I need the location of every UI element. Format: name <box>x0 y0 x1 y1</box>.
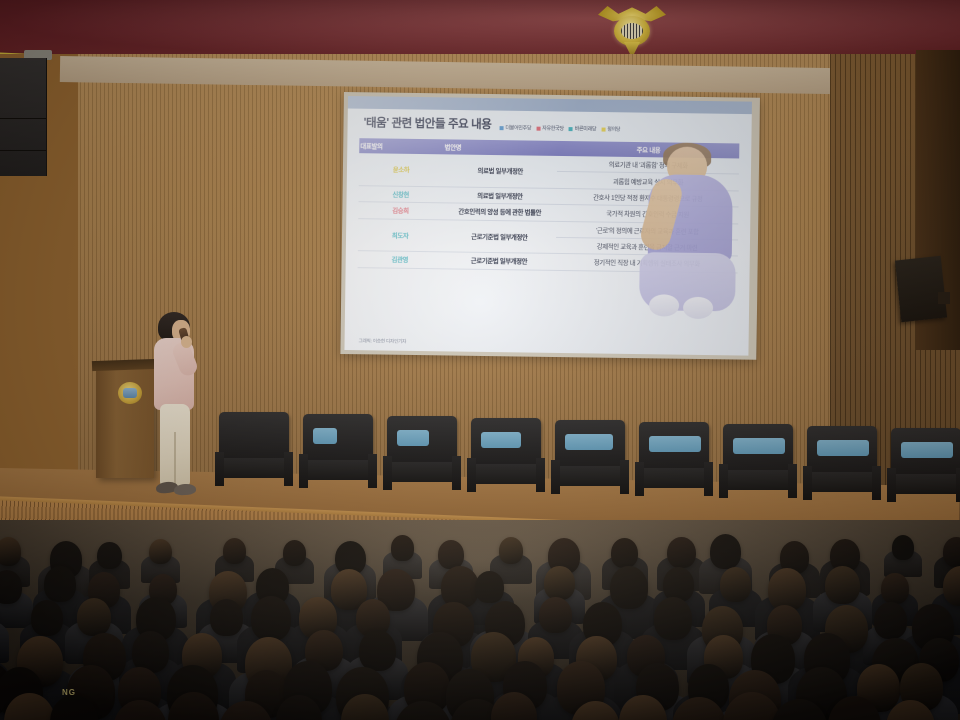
stage-chair <box>635 414 713 506</box>
col-header-billname: 법안명 <box>443 139 557 156</box>
chair-seat <box>805 472 879 492</box>
audience-vignette <box>0 520 960 720</box>
legend-swatch-icon <box>536 126 540 130</box>
school-crest-emblem <box>598 2 666 58</box>
chair-arm-right <box>788 464 797 498</box>
legend-swatch-icon <box>499 126 503 130</box>
illustration-shoe-left <box>649 294 679 316</box>
chair-cushion <box>397 430 429 446</box>
chair-seat <box>553 466 627 486</box>
cell-proposer: 최도자 <box>358 218 443 252</box>
legend-item: 자유한국당 <box>536 125 564 132</box>
slide-content: '태움' 관련 법안들 주요 내용 더불어민주당자유한국당바른미래당정의당 대표… <box>344 96 752 356</box>
chair-cushion <box>733 438 785 454</box>
chair-arm-left <box>719 464 728 498</box>
legend-swatch-icon <box>569 127 573 131</box>
chair-arm-left <box>635 462 644 496</box>
chair-arm-right <box>452 456 461 490</box>
chair-seat <box>889 474 960 494</box>
cell-bill-name: 간호인력의 양성 등에 관한 법률안 <box>443 203 557 221</box>
presenter-shoe-right <box>174 483 197 496</box>
stage-chair <box>467 410 545 502</box>
chair-cushion <box>649 436 701 452</box>
pa-speaker-wall-right <box>895 256 947 322</box>
pa-speaker-stack-left <box>0 58 47 176</box>
chair-arm-left <box>467 458 476 492</box>
chair-seat <box>301 460 375 480</box>
legend-label: 더불어민주당 <box>505 124 531 131</box>
chair-cushion <box>901 442 953 458</box>
crest-globe <box>621 23 643 39</box>
cell-bill-name: 의료법 일부개정안 <box>443 154 558 188</box>
curtain-shading <box>0 0 960 62</box>
chair-arm-right <box>536 458 545 492</box>
stage-chair <box>551 412 629 504</box>
legend-label: 자유한국당 <box>542 125 564 132</box>
podium <box>96 366 154 478</box>
podium-badge-center <box>123 388 137 398</box>
cell-proposer: 신창현 <box>359 185 443 203</box>
cell-proposer: 김관영 <box>358 251 442 269</box>
chair-cushion <box>565 434 613 450</box>
chair-seat <box>385 462 459 482</box>
chair-arm-left <box>299 454 308 488</box>
stage-chair <box>299 406 377 498</box>
chair-seat <box>721 470 795 490</box>
chair-arm-right <box>284 452 293 486</box>
cell-bill-name: 근로기준법 일부개정안 <box>442 219 557 253</box>
presenter-leg-seam <box>174 432 176 486</box>
chair-cushion <box>817 440 869 456</box>
speaker-bracket <box>938 292 950 304</box>
chair-seat <box>217 458 291 478</box>
legend-item: 정의당 <box>601 126 620 133</box>
projection-screen: '태움' 관련 법안들 주요 내용 더불어민주당자유한국당바른미래당정의당 대표… <box>344 96 752 356</box>
chair-arm-right <box>368 454 377 488</box>
chair-arm-left <box>551 460 560 494</box>
cell-bill-name: 근로기준법 일부개정안 <box>442 252 556 270</box>
slide-header: '태움' 관련 법안들 주요 내용 더불어민주당자유한국당바른미래당정의당 <box>364 114 740 135</box>
illustration-shoe-right <box>683 297 713 319</box>
legend-item: 더불어민주당 <box>499 124 531 131</box>
graphic-credit: 그래픽: 이승현 디자인기자 <box>359 338 407 345</box>
chair-arm-right <box>620 460 629 494</box>
chair-arm-left <box>803 466 812 500</box>
chair-arm-left <box>215 452 224 486</box>
legend-item: 바른미래당 <box>569 125 597 132</box>
chair-arm-right <box>872 466 881 500</box>
chair-arm-right <box>956 468 960 502</box>
chair-back <box>219 412 289 460</box>
chair-seat <box>637 468 711 488</box>
stage-chair <box>887 420 960 512</box>
stage-chair-row <box>215 404 960 500</box>
stage-chair <box>215 404 293 496</box>
cell-proposer: 김승희 <box>358 202 442 220</box>
stage-chair <box>803 418 881 510</box>
podium-school-badge <box>118 382 142 404</box>
slide-title: '태움' 관련 법안들 주요 내용 <box>364 114 492 132</box>
audience-seating: NG <box>0 520 960 720</box>
auditorium-photo: '태움' 관련 법안들 주요 내용 더불어민주당자유한국당바른미래당정의당 대표… <box>0 0 960 720</box>
cell-bill-name: 의료법 일부개정안 <box>443 187 557 205</box>
nurse-crouching-illustration <box>625 144 746 326</box>
chair-arm-right <box>704 462 713 496</box>
stage-chair <box>719 416 797 508</box>
party-legend: 더불어민주당자유한국당바른미래당정의당 <box>499 124 620 134</box>
cell-proposer: 윤소하 <box>359 153 444 186</box>
chair-arm-left <box>887 468 896 502</box>
col-header-proposer: 대표발의 <box>359 138 443 154</box>
presenter-with-microphone <box>148 312 198 498</box>
chair-arm-left <box>383 456 392 490</box>
presenter-hand <box>181 336 192 348</box>
legend-swatch-icon <box>601 127 605 131</box>
legend-label: 정의당 <box>607 126 620 133</box>
chair-cushion <box>481 432 521 448</box>
legend-label: 바른미래당 <box>575 125 597 132</box>
stage-chair <box>383 408 461 500</box>
chair-cushion <box>313 428 337 444</box>
chair-seat <box>469 464 543 484</box>
